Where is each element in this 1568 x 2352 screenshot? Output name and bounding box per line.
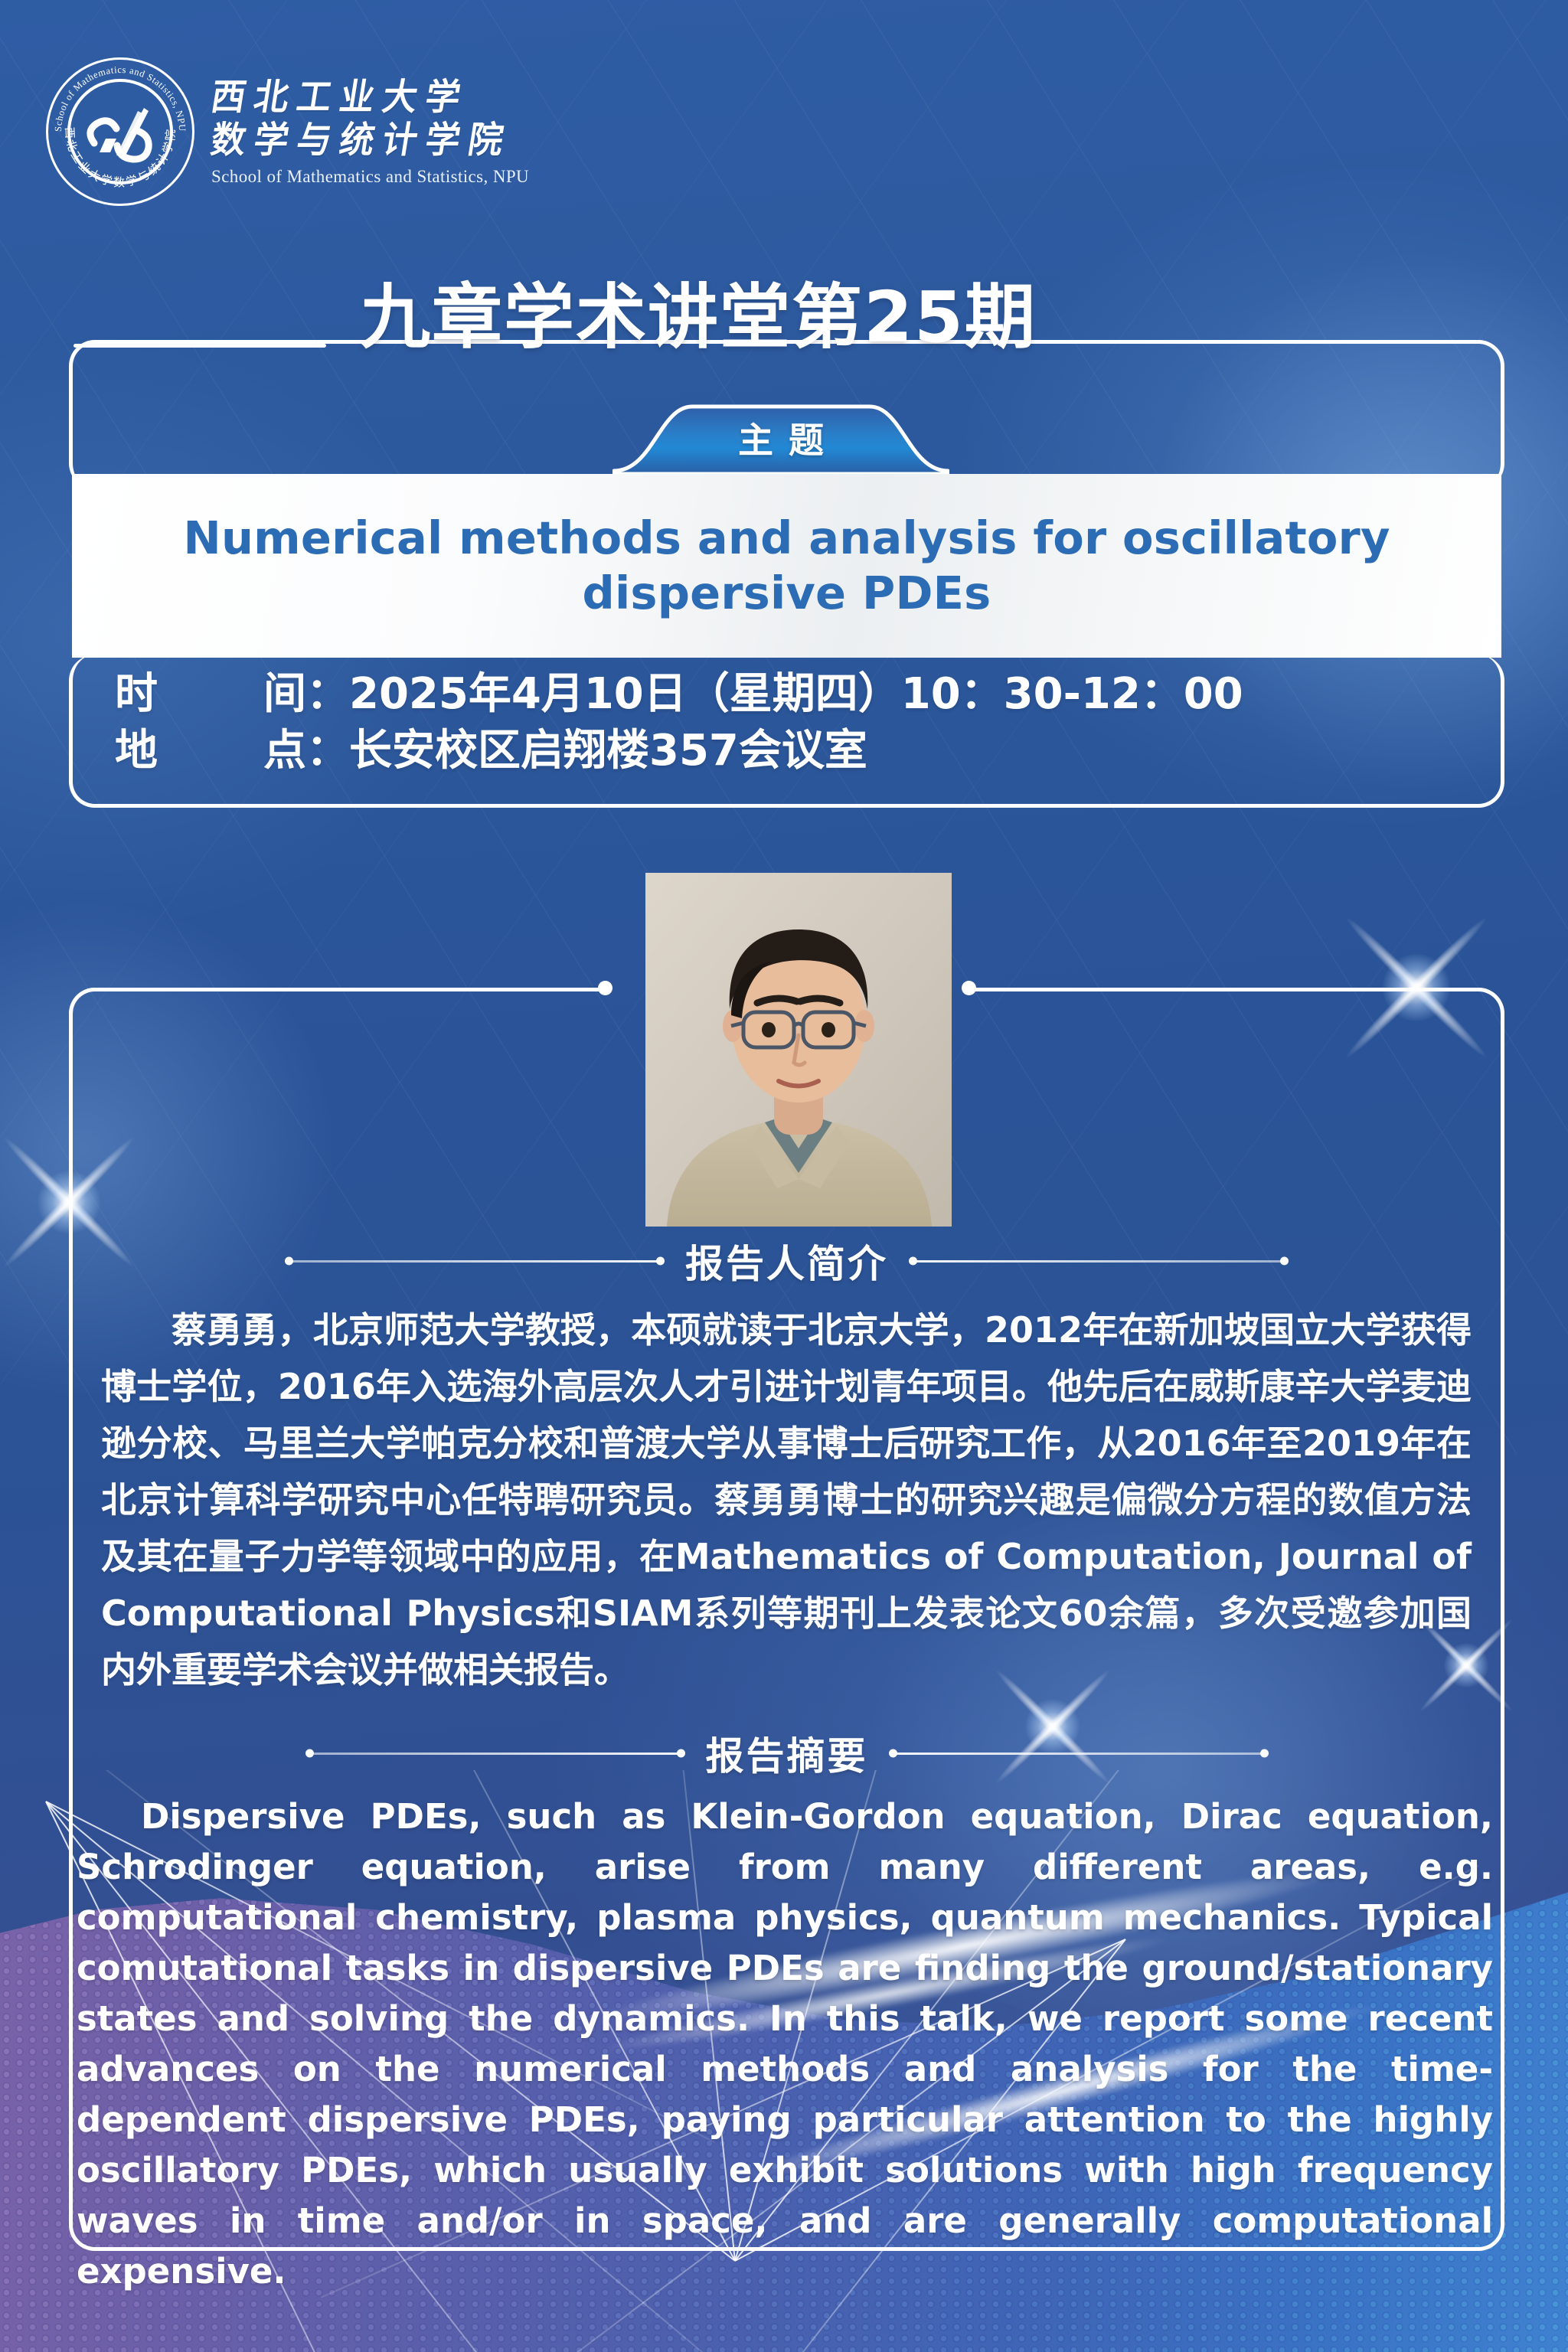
event-place-label: 地 点 xyxy=(115,723,306,779)
talk-title-panel: Numerical methods and analysis for oscil… xyxy=(72,474,1501,658)
poster-canvas: School of Mathematics and Statistics, NP… xyxy=(0,0,1568,2352)
bio-section-heading: 报告人简介 xyxy=(107,1234,1466,1288)
abstract-heading-label: 报告摘要 xyxy=(706,1726,868,1781)
heading-line-right xyxy=(891,1753,1266,1755)
frame-dot-right xyxy=(962,981,976,995)
event-meta: 时 间 ：2025年4月10日（星期四）10：30-12：00 地 点 ：长安校… xyxy=(115,666,1493,779)
topic-badge: 主题 xyxy=(612,402,949,475)
talk-title: Numerical methods and analysis for oscil… xyxy=(183,511,1390,621)
abstract-section-heading: 报告摘要 xyxy=(107,1726,1466,1780)
logo-name-en: School of Mathematics and Statistics, NP… xyxy=(211,167,529,187)
logo-name-cn-line1: 西北工业大学 xyxy=(208,76,533,118)
school-seal-icon: School of Mathematics and Statistics, NP… xyxy=(46,57,194,206)
page-title: 九章学术讲堂第25期 xyxy=(360,276,1037,360)
event-time-row: 时 间 ：2025年4月10日（星期四）10：30-12：00 xyxy=(115,666,1493,723)
abstract-paragraph: Dispersive PDEs, such as Klein-Gordon eq… xyxy=(77,1792,1493,2297)
talk-title-line2: dispersive PDEs xyxy=(583,567,991,619)
heading-line-left xyxy=(308,1753,683,1755)
event-place-colon: ： xyxy=(306,723,349,779)
heading-line-left xyxy=(287,1260,662,1263)
logo-wordmark: 西北工业大学 数学与统计学院 School of Mathematics and… xyxy=(211,77,529,187)
heading-line-right xyxy=(911,1260,1286,1263)
bio-paragraph: 蔡勇勇，北京师范大学教授，本硕就读于北京大学，2012年在新加坡国立大学获得博士… xyxy=(101,1302,1472,1698)
event-place-value: 长安校区启翔楼357会议室 xyxy=(349,723,867,779)
title-rule xyxy=(73,344,326,348)
topic-badge-label: 主题 xyxy=(723,413,839,465)
event-time-value: 2025年4月10日（星期四）10：30-12：00 xyxy=(349,666,1243,723)
bio-heading-label: 报告人简介 xyxy=(685,1233,888,1289)
content-frame-top-left xyxy=(69,988,605,1018)
logo-name-cn-line2: 数学与统计学院 xyxy=(208,119,533,161)
svg-text:School of Mathematics and Stat: School of Mathematics and Statistics, NP… xyxy=(53,64,188,132)
event-time-colon: ： xyxy=(306,666,349,723)
talk-title-line1: Numerical methods and analysis for oscil… xyxy=(183,511,1390,564)
frame-dot-left xyxy=(598,981,612,995)
content-frame-top-right xyxy=(969,988,1504,1018)
event-place-row: 地 点 ：长安校区启翔楼357会议室 xyxy=(115,723,1493,779)
seal-text-en: School of Mathematics and Statistics, NP… xyxy=(53,64,188,132)
npu-logo: School of Mathematics and Statistics, NP… xyxy=(46,57,529,206)
event-time-label: 时 间 xyxy=(115,666,306,723)
